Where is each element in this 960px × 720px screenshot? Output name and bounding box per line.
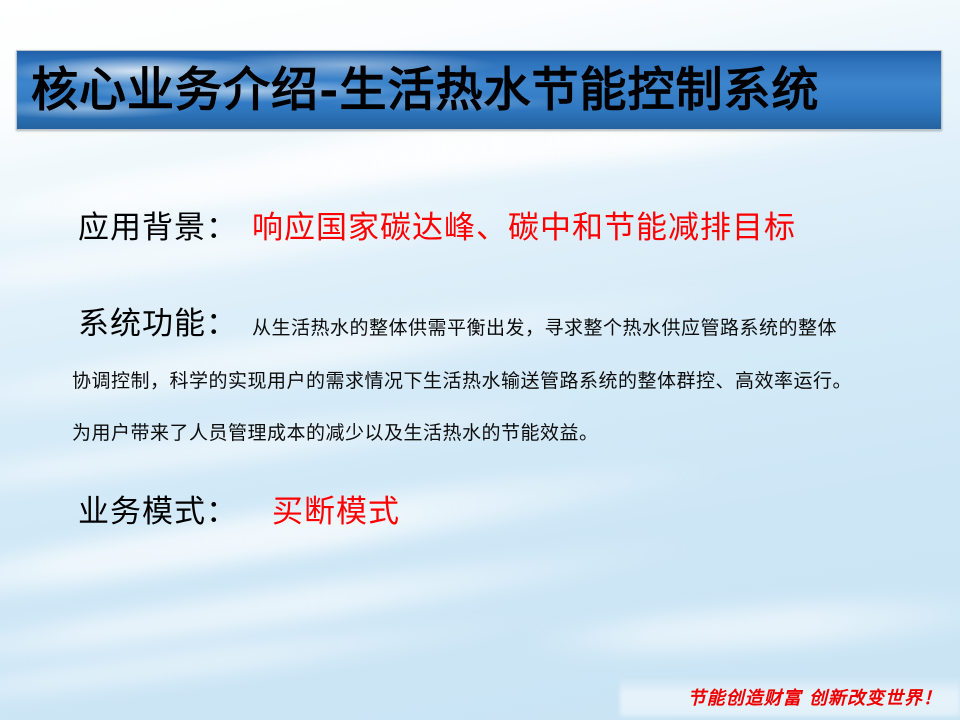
cloud-streak bbox=[519, 588, 960, 664]
system-function-line-2-row: 协调控制，科学的实现用户的需求情况下生活热水输送管路系统的整体群控、高效率运行。 bbox=[72, 366, 852, 393]
slide-title: 核心业务介绍-生活热水节能控制系统 bbox=[17, 67, 820, 114]
application-background-row: 应用背景：响应国家碳达峰、碳中和节能减排目标 bbox=[78, 202, 796, 247]
system-function-line-2: 协调控制，科学的实现用户的需求情况下生活热水输送管路系统的整体群控、高效率运行。 bbox=[72, 370, 852, 392]
cloud-streak bbox=[0, 531, 698, 679]
system-function-line-3: 为用户带来了人员管理成本的减少以及生活热水的节能效益。 bbox=[72, 422, 599, 444]
system-function-label: 系统功能： bbox=[78, 306, 238, 342]
cloud-streak bbox=[0, 444, 738, 621]
system-function-row: 系统功能：从生活热水的整体供需平衡出发，寻求整个热水供应管路系统的整体 bbox=[78, 298, 837, 343]
cloud-streak bbox=[0, 605, 559, 716]
footer-slogan: 节能创造财富 创新改变世界！ bbox=[688, 684, 942, 710]
business-mode-value: 买断模式 bbox=[272, 494, 400, 530]
application-background-label: 应用背景： bbox=[78, 210, 238, 246]
application-background-value: 响应国家碳达峰、碳中和节能减排目标 bbox=[252, 210, 796, 246]
system-function-line-1: 从生活热水的整体供需平衡出发，寻求整个热水供应管路系统的整体 bbox=[252, 317, 837, 339]
title-banner: 核心业务介绍-生活热水节能控制系统 bbox=[16, 50, 942, 130]
system-function-line-3-row: 为用户带来了人员管理成本的减少以及生活热水的节能效益。 bbox=[72, 418, 599, 445]
business-mode-label: 业务模式： bbox=[78, 494, 238, 530]
business-mode-row: 业务模式：买断模式 bbox=[78, 486, 400, 531]
cloud-streak bbox=[0, 269, 759, 431]
slide-canvas: 核心业务介绍-生活热水节能控制系统 应用背景：响应国家碳达峰、碳中和节能减排目标… bbox=[0, 0, 960, 720]
